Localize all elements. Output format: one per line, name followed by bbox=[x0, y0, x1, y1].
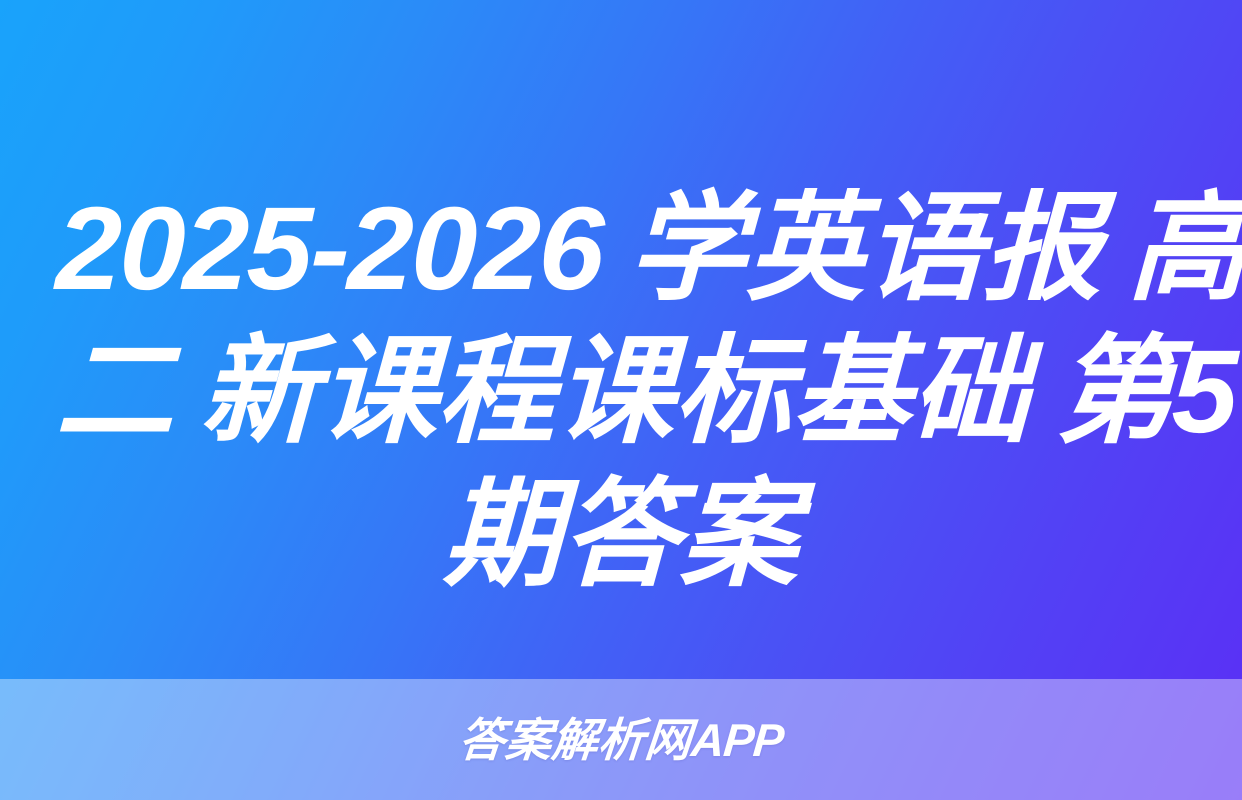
title-grade-second-char: 二 bbox=[54, 326, 176, 458]
poster-canvas: 2025-2026学英语报高 二新课程课标基础第5 期答案 答案解析网APP bbox=[0, 0, 1242, 800]
poster-title: 2025-2026学英语报高 二新课程课标基础第5 期答案 bbox=[0, 178, 1242, 607]
title-series-name: 新课程课标基础 bbox=[199, 326, 1032, 458]
title-line-1: 2025-2026学英语报高 bbox=[54, 178, 1188, 321]
footer-band: 答案解析网APP bbox=[0, 679, 1242, 800]
title-issue-number: 第5 bbox=[1054, 326, 1237, 458]
title-line-3: 期答案 bbox=[54, 464, 1188, 607]
title-grade-first-char: 高 bbox=[1127, 183, 1242, 315]
title-issue-suffix: 期答案 bbox=[442, 469, 801, 601]
footer-brand: 答案解析网APP bbox=[457, 713, 786, 767]
footer-brand-name: 答案解析网 bbox=[457, 714, 694, 766]
title-publication-name: 学英语报 bbox=[627, 183, 1104, 315]
footer-app-label: APP bbox=[689, 714, 785, 766]
title-line-2: 二新课程课标基础第5 bbox=[54, 321, 1188, 464]
title-year-range: 2025-2026 bbox=[54, 183, 604, 315]
